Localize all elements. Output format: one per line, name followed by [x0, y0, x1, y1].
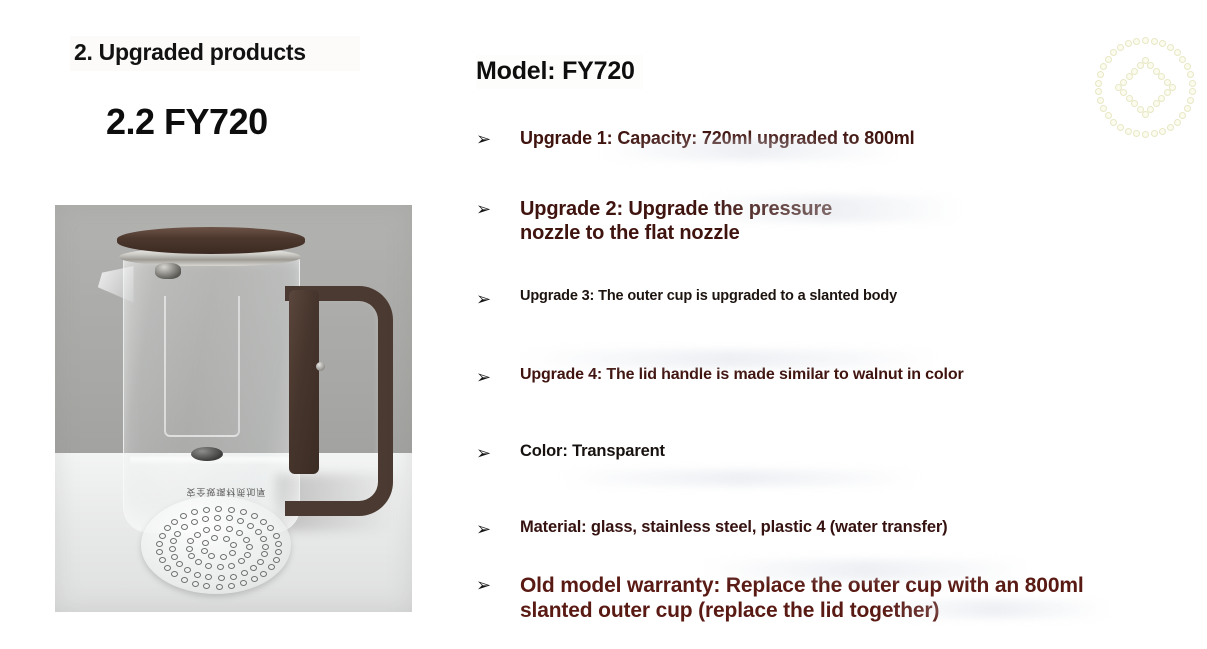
bullet-upgrade-4: ➢Upgrade 4: The lid handle is made simil… — [476, 366, 964, 389]
page-title: 2. Upgraded products — [70, 36, 360, 71]
logo-dot — [1179, 112, 1186, 119]
logo-dot — [1187, 71, 1194, 78]
filter-hole — [260, 519, 267, 525]
filter-hole — [174, 531, 181, 537]
filter-hole — [226, 515, 233, 521]
filter-hole — [257, 559, 264, 565]
logo-dot — [1167, 44, 1174, 51]
logo-dot — [1174, 49, 1181, 56]
logo-dot — [1179, 56, 1186, 63]
logo-dot — [1153, 100, 1160, 107]
filter-hole — [228, 583, 235, 589]
filter-hole — [229, 550, 236, 556]
filter-hole — [156, 541, 163, 547]
filter-hole — [159, 533, 166, 539]
filter-hole — [273, 557, 280, 563]
filter-hole — [240, 509, 247, 515]
teapot-filter-disc — [141, 496, 291, 594]
logo-dot — [1105, 56, 1112, 63]
logo-dot — [1126, 95, 1133, 102]
filter-hole — [195, 559, 202, 565]
filter-hole — [187, 538, 194, 544]
filter-hole — [164, 525, 171, 531]
bullet-upgrade-2: ➢Upgrade 2: Upgrade the pressure nozzle … — [476, 198, 832, 245]
arrow-bullet-icon: ➢ — [476, 519, 520, 542]
logo-dot — [1151, 38, 1158, 45]
bullet-upgrade-3: ➢Upgrade 3: The outer cup is upgraded to… — [476, 288, 897, 311]
filter-hole — [216, 584, 223, 590]
bullet-color: ➢Color: Transparent — [476, 442, 665, 465]
filter-hole — [230, 542, 237, 548]
logo-dot — [1174, 119, 1181, 126]
arrow-bullet-icon: ➢ — [476, 575, 520, 598]
filter-hole — [250, 565, 257, 571]
logo-dot — [1187, 97, 1194, 104]
logo-dot — [1151, 130, 1158, 137]
logo-dot — [1189, 88, 1196, 95]
bullet-old-model-warranty: ➢Old model warranty: Replace the outer c… — [476, 574, 1084, 624]
arrow-bullet-icon: ➢ — [476, 129, 520, 152]
arrow-bullet-icon: ➢ — [476, 443, 520, 466]
filter-hole — [228, 563, 235, 569]
filter-hole — [236, 530, 243, 536]
bullet-text-upgrade-4: Upgrade 4: The lid handle is made simila… — [520, 366, 964, 385]
logo-dot — [1137, 106, 1144, 113]
filter-hole — [240, 580, 247, 586]
filter-hole — [260, 536, 267, 542]
filter-hole — [201, 548, 208, 554]
logo-dot — [1100, 105, 1107, 112]
logo-dot — [1117, 44, 1124, 51]
filter-hole — [211, 535, 218, 541]
logo-dot — [1159, 128, 1166, 135]
logo-dot — [1184, 63, 1191, 70]
filter-hole — [223, 536, 230, 542]
filter-hole — [246, 544, 253, 550]
filter-hole — [214, 515, 221, 521]
filter-hole — [238, 558, 245, 564]
filter-hole — [255, 529, 262, 535]
logo-dot — [1117, 124, 1124, 131]
logo-dot — [1095, 80, 1102, 87]
bullet-text-color: Color: Transparent — [520, 442, 665, 461]
filter-hole — [191, 509, 198, 515]
bullet-text-upgrade-3: Upgrade 3: The outer cup is upgraded to … — [520, 288, 897, 305]
bullet-text-material: Material: glass, stainless steel, plasti… — [520, 518, 948, 537]
logo-dot — [1147, 106, 1154, 113]
bullet-upgrade-1: ➢Upgrade 1: Capacity: 720ml upgraded to … — [476, 128, 915, 151]
filter-hole — [273, 533, 280, 539]
filter-hole — [205, 563, 212, 569]
bullet-text-upgrade-1: Upgrade 1: Capacity: 720ml upgraded to 8… — [520, 128, 915, 149]
filter-hole — [181, 577, 188, 583]
logo-dot — [1095, 88, 1102, 95]
filter-hole — [262, 544, 269, 550]
filter-hole — [268, 564, 275, 570]
arrow-bullet-icon: ➢ — [476, 367, 520, 390]
filter-hole — [260, 571, 267, 577]
filter-hole — [226, 526, 233, 532]
logo-dot — [1133, 38, 1140, 45]
product-photo: 安全玻璃材质加厚 — [55, 205, 412, 612]
filter-hole — [203, 527, 210, 533]
teapot-wooden-lid — [117, 227, 304, 254]
filter-hole — [241, 570, 248, 576]
filter-hole — [191, 519, 198, 525]
filter-hole — [169, 546, 176, 552]
logo-dot — [1137, 62, 1144, 69]
logo-dot — [1164, 89, 1171, 96]
filter-hole — [192, 581, 199, 587]
filter-hole — [251, 576, 258, 582]
filter-hole — [188, 553, 195, 559]
logo-dot — [1189, 80, 1196, 87]
filter-hole — [275, 541, 282, 547]
filter-hole — [214, 525, 221, 531]
filter-hole — [217, 564, 224, 570]
filter-hole — [237, 518, 244, 524]
filter-hole — [244, 552, 251, 558]
logo-dot — [1159, 40, 1166, 47]
filter-hole — [180, 513, 187, 519]
logo-dot — [1097, 97, 1104, 104]
filter-hole — [159, 557, 166, 563]
logo-dot — [1105, 112, 1112, 119]
teapot-inner-liner — [164, 296, 240, 436]
filter-hole — [208, 553, 215, 559]
logo-dot — [1142, 111, 1149, 118]
filter-hole — [205, 574, 212, 580]
filter-hole — [171, 554, 178, 560]
filter-hole — [267, 525, 274, 531]
filter-hole — [251, 513, 258, 519]
filter-hole — [156, 549, 163, 555]
logo-dot — [1100, 63, 1107, 70]
teapot-collar-clip — [155, 263, 181, 279]
logo-dot — [1131, 68, 1138, 75]
filter-hole — [203, 583, 210, 589]
logo-dot — [1184, 105, 1191, 112]
filter-hole — [184, 567, 191, 573]
filter-hole — [194, 532, 201, 538]
filter-hole — [181, 524, 188, 530]
logo-dot — [1110, 119, 1117, 126]
filter-hole — [170, 538, 177, 544]
filter-hole — [261, 551, 268, 557]
filter-hole — [220, 554, 227, 560]
logo-dot — [1125, 128, 1132, 135]
teapot-handle-screw — [316, 362, 325, 371]
filter-hole — [247, 523, 254, 529]
logo-dot — [1110, 49, 1117, 56]
filter-hole — [230, 574, 237, 580]
teapot-handle-grip — [289, 290, 319, 473]
logo-dot — [1133, 130, 1140, 137]
filter-hole — [275, 549, 282, 555]
logo-dot — [1142, 131, 1149, 138]
filter-hole — [194, 572, 201, 578]
filter-hole — [202, 516, 209, 522]
bullet-material: ➢Material: glass, stainless steel, plast… — [476, 518, 948, 541]
logo-dot — [1142, 37, 1149, 44]
logo-dot — [1125, 40, 1132, 47]
filter-hole — [164, 565, 171, 571]
logo-dot — [1120, 79, 1127, 86]
bullet-text-upgrade-2: Upgrade 2: Upgrade the pressure nozzle t… — [520, 198, 832, 245]
filter-hole — [186, 546, 193, 552]
arrow-bullet-icon: ➢ — [476, 289, 520, 312]
dotted-circle-diamond-logo — [1090, 32, 1194, 136]
arrow-bullet-icon: ➢ — [476, 199, 520, 222]
model-title: Model: FY720 — [476, 55, 643, 89]
page-subtitle: 2.2 FY720 — [106, 102, 268, 142]
logo-dot — [1097, 71, 1104, 78]
filter-hole — [228, 507, 235, 513]
bullet-text-old-model-warranty: Old model warranty: Replace the outer cu… — [520, 574, 1084, 624]
filter-hole — [171, 519, 178, 525]
filter-hole — [203, 507, 210, 513]
filter-hole — [218, 575, 225, 581]
filter-hole — [202, 540, 209, 546]
logo-dot — [1167, 124, 1174, 131]
filter-hole — [176, 561, 183, 567]
teapot-pressure-nozzle — [191, 447, 223, 461]
filter-hole — [215, 506, 222, 512]
background-artifact — [560, 470, 920, 486]
filter-hole — [171, 571, 178, 577]
filter-hole — [243, 537, 250, 543]
slide-canvas: 2. Upgraded products 2.2 FY720 安全玻璃材质加厚 … — [0, 0, 1207, 649]
